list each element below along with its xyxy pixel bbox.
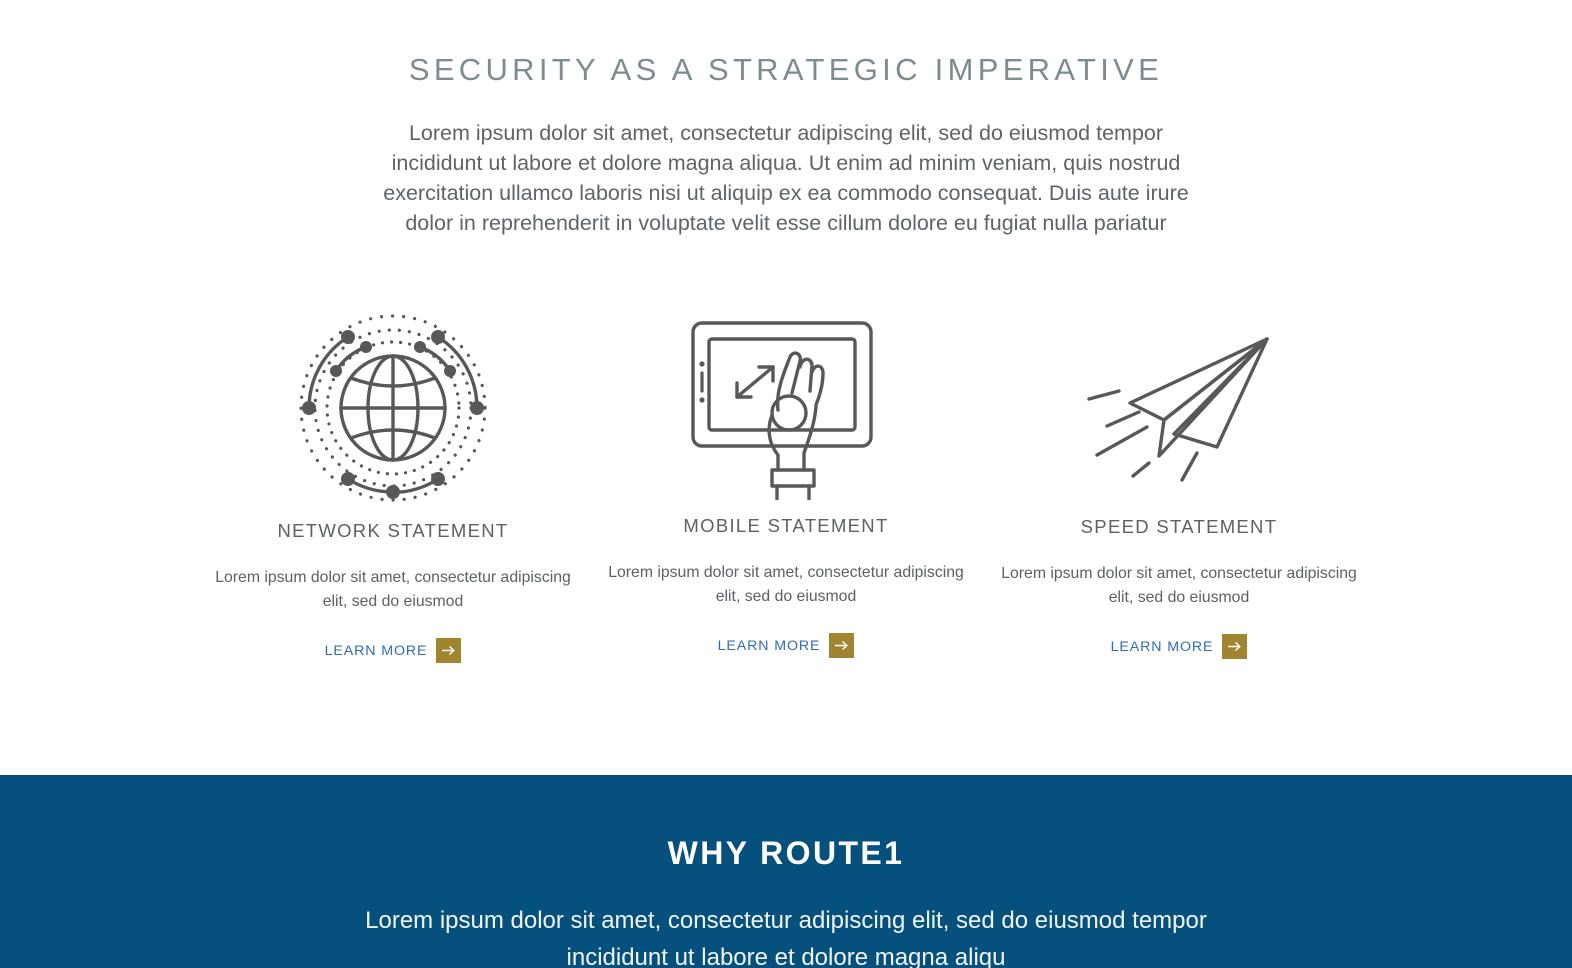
why-route1-section: WHY ROUTE1 Lorem ipsum dolor sit amet, c…	[0, 775, 1572, 968]
card-title: SPEED STATEMENT	[983, 516, 1376, 538]
card-description: Lorem ipsum dolor sit amet, consectetur …	[983, 562, 1376, 610]
arrow-right-icon[interactable]	[829, 633, 854, 658]
card-description: Lorem ipsum dolor sit amet, consectetur …	[590, 561, 983, 609]
learn-more-label: LEARN MORE	[718, 638, 821, 654]
card-title: NETWORK STATEMENT	[197, 520, 590, 542]
learn-more-link-network[interactable]: LEARN MORE	[325, 638, 462, 663]
landing-page: SECURITY AS A STRATEGIC IMPERATIVE Lorem…	[0, 0, 1572, 968]
card-description: Lorem ipsum dolor sit amet, consectetur …	[197, 566, 590, 614]
feature-card-mobile: MOBILE STATEMENT Lorem ipsum dolor sit a…	[590, 300, 983, 663]
why-route1-title: WHY ROUTE1	[0, 775, 1572, 872]
page-title: SECURITY AS A STRATEGIC IMPERATIVE	[0, 0, 1572, 88]
tablet-pinch-gesture-icon	[590, 300, 983, 515]
learn-more-link-mobile[interactable]: LEARN MORE	[718, 633, 855, 658]
why-route1-paragraph: Lorem ipsum dolor sit amet, consectetur …	[356, 902, 1216, 968]
learn-more-label: LEARN MORE	[1111, 639, 1214, 655]
hero-section: SECURITY AS A STRATEGIC IMPERATIVE Lorem…	[0, 0, 1572, 775]
card-title: MOBILE STATEMENT	[590, 515, 983, 537]
arrow-right-icon[interactable]	[1222, 634, 1247, 659]
learn-more-link-speed[interactable]: LEARN MORE	[1111, 634, 1248, 659]
learn-more-label: LEARN MORE	[325, 643, 428, 659]
feature-card-network: NETWORK STATEMENT Lorem ipsum dolor sit …	[197, 300, 590, 663]
hero-intro-paragraph: Lorem ipsum dolor sit amet, consectetur …	[376, 118, 1196, 238]
feature-card-speed: SPEED STATEMENT Lorem ipsum dolor sit am…	[983, 300, 1376, 663]
arrow-right-icon[interactable]	[436, 638, 461, 663]
feature-cards-row: NETWORK STATEMENT Lorem ipsum dolor sit …	[0, 300, 1572, 663]
paper-plane-icon	[983, 300, 1376, 515]
network-globe-icon	[197, 300, 590, 515]
